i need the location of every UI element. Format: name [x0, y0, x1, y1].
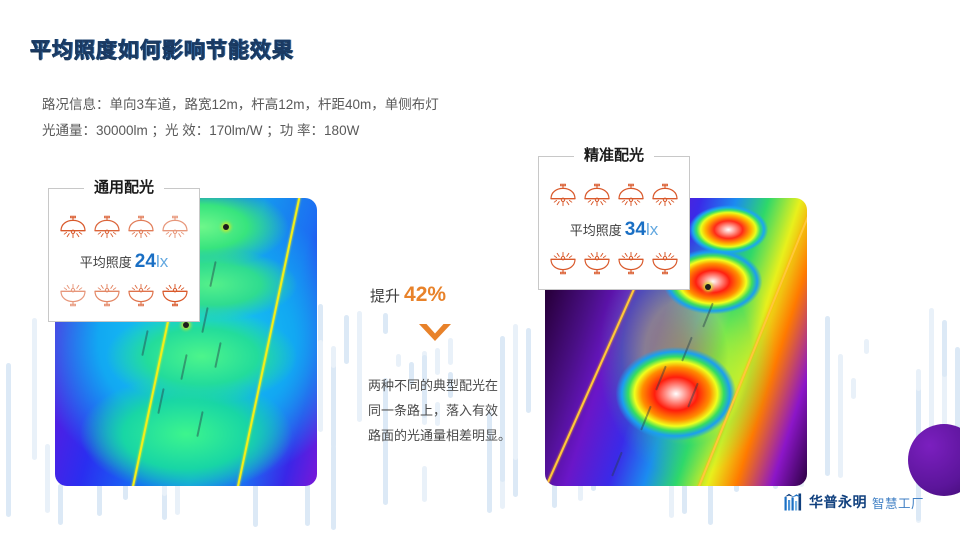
lane-line-right [228, 198, 308, 486]
average-illuminance-unit: lx [156, 252, 168, 271]
caption-line-3: 路面的光通量相差明显。 [368, 423, 538, 448]
background-bar [825, 316, 830, 477]
huapu-logo-mark-icon [784, 493, 804, 511]
background-bar [318, 340, 323, 431]
logo-sub-text: 智慧工厂 [872, 493, 924, 512]
background-bar [58, 484, 63, 524]
lane-dash [181, 354, 188, 380]
chevron-down-icon [418, 322, 452, 344]
pole-marker [705, 284, 711, 290]
average-illuminance-unit: lx [646, 220, 658, 239]
card-caption: 通用配光 [48, 178, 200, 198]
card-caption-text: 通用配光 [84, 179, 164, 196]
average-illuminance-value: 34 [625, 219, 646, 240]
precise-distribution-card: 精准配光 平均照度34lx [538, 146, 690, 290]
company-logo: 华普永明 智慧工厂 [784, 492, 924, 512]
background-bar [344, 315, 349, 364]
lane-dash [210, 261, 217, 287]
lamp-icon [582, 182, 612, 208]
lane-line-right [685, 198, 807, 486]
lane-dash [215, 342, 222, 368]
lamp-row-top [58, 214, 190, 240]
background-bar [357, 318, 362, 356]
background-bar [383, 313, 388, 334]
lamp-icon [160, 282, 190, 308]
card-body: 平均照度24lx [48, 198, 200, 322]
caption-line-2: 同一条路上，落入有效 [368, 398, 538, 423]
lamp-icon [58, 214, 88, 240]
lane-dash [703, 302, 714, 327]
lamp-icon [58, 282, 88, 308]
average-illuminance-row: 平均照度34lx [548, 219, 680, 241]
average-illuminance-label: 平均照度 [570, 223, 622, 238]
lamp-row-top [548, 182, 680, 208]
lamp-icon [548, 182, 578, 208]
background-bar [435, 348, 440, 375]
corner-blob-decoration [908, 424, 960, 496]
background-bar [396, 354, 401, 367]
lamp-icon [160, 214, 190, 240]
background-bar [318, 304, 323, 414]
card-caption: 精准配光 [538, 146, 690, 166]
lane-dash [640, 406, 651, 431]
uplift-row: 提升42% [370, 283, 446, 307]
background-bar [331, 445, 336, 530]
background-bar [45, 444, 50, 513]
lamp-icon [650, 250, 680, 276]
background-bar [6, 363, 11, 517]
uplift-label: 提升 [370, 288, 400, 305]
road-spec-block: 路况信息：单向3车道，路宽12m，杆高12m，杆距40m，单侧布灯 光通量：30… [42, 92, 439, 144]
pole-marker [183, 322, 189, 328]
background-bar [331, 362, 336, 448]
lamp-row-bottom [548, 250, 680, 276]
general-distribution-card: 通用配光 平均照度24lx [48, 178, 200, 322]
background-bar [32, 318, 37, 460]
lane-dash [682, 337, 693, 362]
caption-line-1: 两种不同的典型配光在 [368, 373, 538, 398]
background-bar [838, 395, 843, 418]
background-bar [864, 339, 869, 353]
lane-dash [141, 331, 148, 357]
lamp-icon [650, 182, 680, 208]
background-bar [331, 346, 336, 369]
average-illuminance-value: 24 [135, 251, 156, 272]
spec-line-road: 路况信息：单向3车道，路宽12m，杆高12m，杆距40m，单侧布灯 [42, 92, 439, 118]
lane-dash [196, 411, 203, 437]
background-bar [929, 349, 934, 364]
uplift-value: 42% [404, 283, 446, 306]
background-bar [916, 369, 921, 391]
background-bar [422, 466, 427, 502]
average-illuminance-row: 平均照度24lx [58, 251, 190, 273]
lamp-icon [616, 250, 646, 276]
pole-marker [223, 224, 229, 230]
background-bar [851, 378, 856, 399]
page-title: 平均照度如何影响节能效果 [30, 34, 294, 64]
spec-line-luminaire: 光通量：30000lm ；光 效：170lm/W ；功 率：180W [42, 118, 439, 144]
lane-dash [157, 388, 164, 414]
card-body: 平均照度34lx [538, 166, 690, 290]
background-bar [942, 320, 947, 377]
background-bar [838, 354, 843, 479]
background-bar [357, 311, 362, 422]
lamp-icon [616, 182, 646, 208]
explanation-caption: 两种不同的典型配光在 同一条路上，落入有效 路面的光通量相差明显。 [368, 373, 538, 448]
lamp-icon [126, 214, 156, 240]
lamp-icon [126, 282, 156, 308]
average-illuminance-label: 平均照度 [80, 255, 132, 270]
logo-brand-text: 华普永明 [809, 492, 867, 512]
lane-dash [655, 366, 666, 391]
lamp-icon [92, 214, 122, 240]
lamp-row-bottom [58, 282, 190, 308]
lamp-icon [548, 250, 578, 276]
card-caption-text: 精准配光 [574, 147, 654, 164]
lane-dash [202, 308, 209, 334]
lamp-icon [582, 250, 612, 276]
lamp-icon [92, 282, 122, 308]
lane-dash [687, 383, 698, 408]
lane-dash [611, 452, 622, 477]
